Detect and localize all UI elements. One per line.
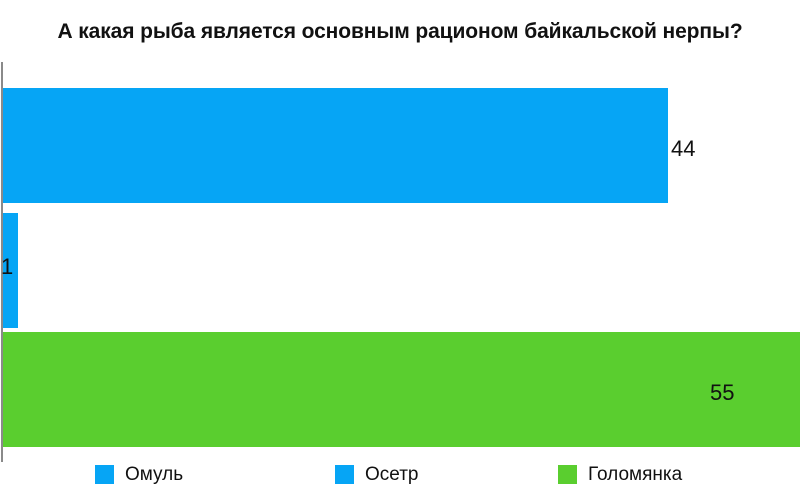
legend-swatch-icon-osetr — [335, 465, 354, 484]
legend-label-omul: Омуль — [125, 465, 183, 484]
bar-chart: А какая рыба является основным рационом … — [0, 0, 800, 499]
chart-title: А какая рыба является основным рационом … — [0, 20, 800, 44]
bar-omul[interactable] — [3, 88, 668, 203]
bar-golomyanka[interactable] — [3, 332, 800, 447]
legend-item-omul[interactable]: Омуль — [95, 462, 183, 486]
legend-label-osetr: Осетр — [365, 465, 418, 484]
legend-item-golomyanka[interactable]: Голомянка — [558, 462, 682, 486]
legend-item-osetr[interactable]: Осетр — [335, 462, 418, 486]
bar-value-label-omul: 44 — [671, 138, 695, 160]
plot-area: 44 1 55 — [0, 60, 800, 462]
legend-label-golomyanka: Голомянка — [588, 465, 682, 484]
legend-swatch-icon-golomyanka — [558, 465, 577, 484]
bar-value-label-osetr: 1 — [1, 256, 13, 278]
chart-legend: Омуль Осетр Голомянка — [0, 462, 800, 499]
bar-value-label-golomyanka: 55 — [710, 382, 734, 404]
legend-swatch-icon-omul — [95, 465, 114, 484]
